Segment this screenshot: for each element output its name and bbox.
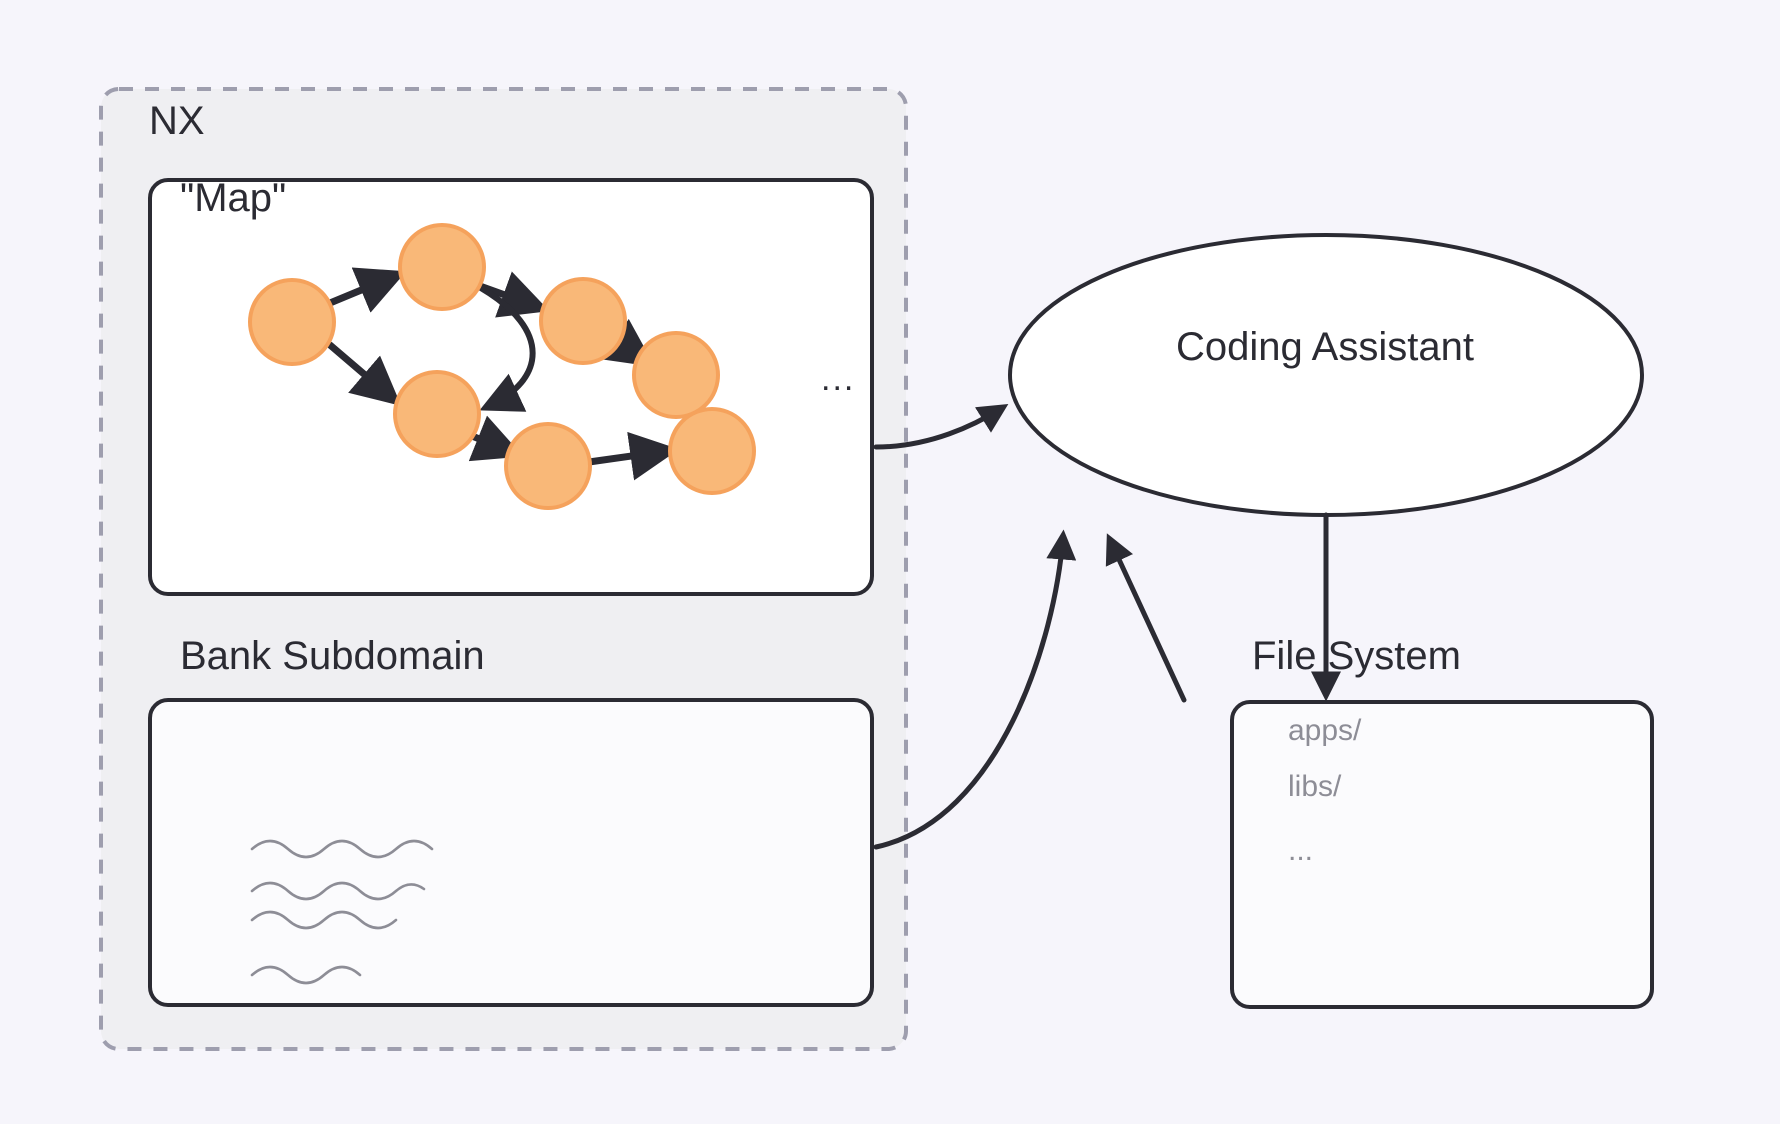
diagram-canvas: NX "Map" ... Bank Subdomain Coding Assis… (0, 0, 1780, 1124)
graph-node[interactable] (395, 372, 479, 456)
file-system-item: libs/ (1288, 770, 1341, 804)
map-panel-box[interactable] (150, 180, 872, 594)
graph-node[interactable] (400, 225, 484, 309)
coding-assistant-label: Coding Assistant (1010, 325, 1640, 370)
graph-node[interactable] (250, 280, 334, 364)
coding-assistant-ellipse[interactable] (1010, 235, 1642, 515)
diagram-svg (0, 0, 1780, 1124)
nx-container-label: NX (149, 101, 205, 141)
graph-node[interactable] (634, 333, 718, 417)
map-panel-title: "Map" (180, 178, 286, 218)
file-system-title: File System (1252, 636, 1461, 676)
graph-node[interactable] (670, 409, 754, 493)
file-system-item: apps/ (1288, 714, 1361, 748)
graph-node[interactable] (506, 424, 590, 508)
bank-subdomain-box[interactable] (150, 700, 872, 1005)
map-ellipsis: ... (821, 360, 855, 399)
connector-filesystem-to-assistant (1110, 540, 1184, 700)
bank-subdomain-title: Bank Subdomain (180, 636, 485, 676)
graph-node[interactable] (541, 279, 625, 363)
file-system-item: ... (1288, 834, 1313, 868)
